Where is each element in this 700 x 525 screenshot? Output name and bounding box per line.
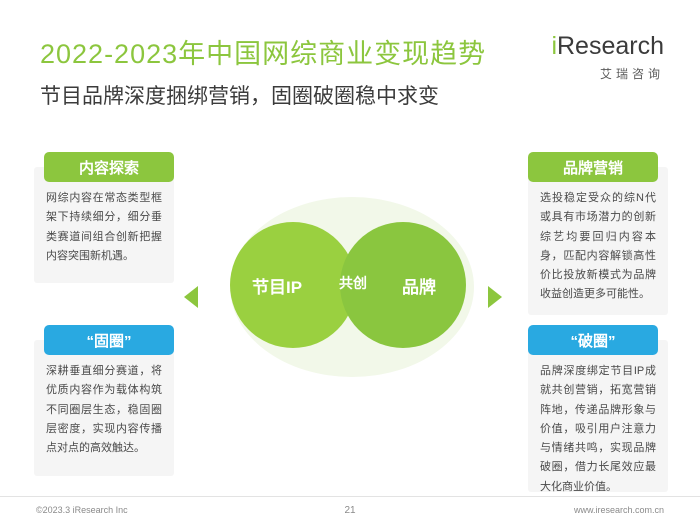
card-badge-content-exploration: 内容探索	[44, 152, 174, 182]
arrow-right-icon	[488, 286, 502, 308]
arrow-left-icon	[184, 286, 198, 308]
logo-wordmark: iResearch	[551, 34, 664, 59]
footer-website: www.iresearch.com.cn	[574, 505, 664, 515]
venn-overlap-label: 共创	[323, 273, 383, 293]
card-body-solidify-circle: 深耕垂直细分赛道，将优质内容作为载体构筑不同圈层生态，稳固圈层密度，实现内容传播…	[34, 340, 174, 476]
page-title: 2022-2023年中国网综商业变现趋势	[40, 32, 486, 71]
card-body-break-circle: 品牌深度绑定节目IP成就共创营销，拓宽营销阵地，传递品牌形象与价值，吸引用户注意…	[528, 340, 668, 492]
venn-right-label: 品牌	[402, 273, 436, 298]
card-badge-solidify-circle: “固圈”	[44, 325, 174, 355]
footer-page-number: 21	[344, 505, 355, 516]
footer-divider	[0, 496, 700, 497]
card-body-content-exploration: 网综内容在常态类型框架下持续细分，细分垂类赛道间组合创新把握内容突围新机遇。	[34, 167, 174, 283]
logo-research-text: Research	[557, 32, 664, 60]
footer-copyright: ©2023.3 iResearch Inc	[36, 505, 128, 515]
card-badge-break-circle: “破圈”	[528, 325, 658, 355]
page-subtitle: 节目品牌深度捆绑营销，固圈破圈稳中求变	[40, 80, 439, 110]
venn-left-label: 节目IP	[252, 273, 302, 298]
card-body-brand-marketing: 选投稳定受众的综N代或具有市场潜力的创新综艺均要回归内容本身，匹配内容解锁高性价…	[528, 167, 668, 315]
card-badge-brand-marketing: 品牌营销	[528, 152, 658, 182]
iresearch-logo: iResearch 艾瑞咨询	[551, 34, 664, 82]
slide-canvas: 2022-2023年中国网综商业变现趋势 节目品牌深度捆绑营销，固圈破圈稳中求变…	[0, 0, 700, 525]
logo-chinese-text: 艾瑞咨询	[551, 65, 664, 82]
venn-diagram: 节目IP 品牌 共创	[222, 195, 482, 380]
